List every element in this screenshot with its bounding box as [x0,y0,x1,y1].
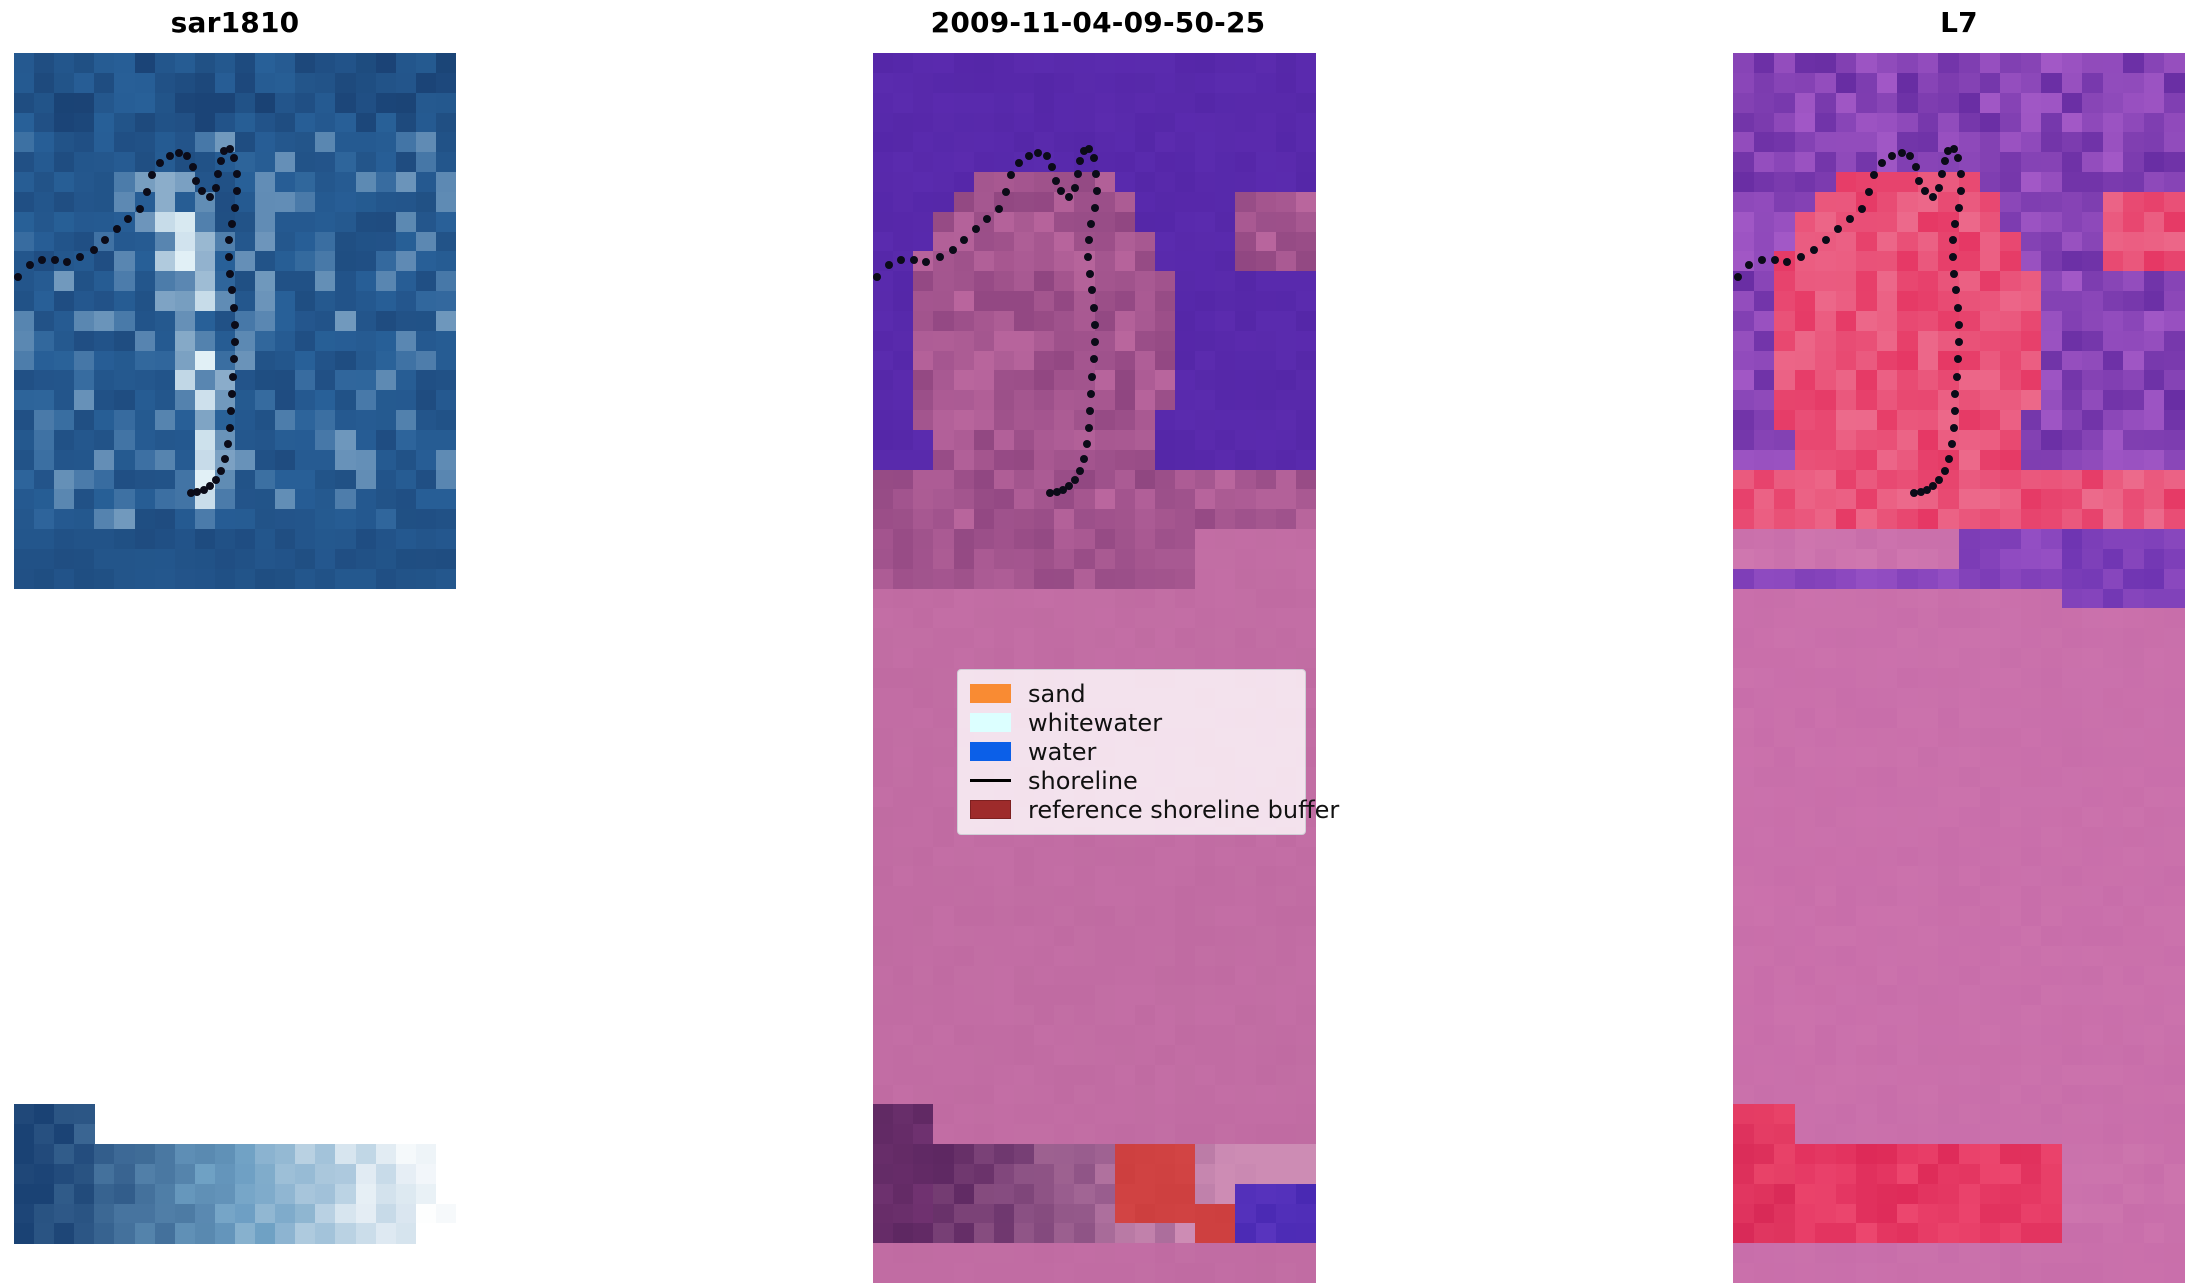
raster-cell [1877,1085,1898,1106]
raster-cell [2062,311,2083,332]
raster-cell [416,1184,437,1205]
raster-cell [1774,668,1795,689]
axes-classified[interactable] [873,53,1316,1283]
raster-cell [1155,1045,1176,1066]
raster-cell [54,73,75,94]
raster-cell [1054,212,1075,233]
raster-cell [1754,648,1775,669]
raster-cell [974,93,995,114]
raster-cell [1014,866,1035,887]
raster-cell [14,529,35,550]
raster-cell [34,311,55,332]
raster-cell [1014,113,1035,134]
raster-cell [1836,113,1857,134]
raster-cell [1938,1184,1959,1205]
raster-cell [2062,569,2083,590]
raster-cell [235,271,256,292]
raster-cell [893,767,914,788]
raster-cell [1155,886,1176,907]
raster-cell [1014,470,1035,491]
raster-cell [2062,271,2083,292]
raster-cell [1980,708,2001,729]
raster-cell [1215,608,1236,629]
raster-cell [2164,966,2185,987]
raster-cell [1980,450,2001,471]
raster-cell [2123,93,2144,114]
raster-cell [1195,946,1216,967]
raster-cell [1980,1124,2001,1145]
raster-cell [2062,53,2083,74]
raster-cell [1034,251,1055,272]
raster-cell [1155,648,1176,669]
raster-cell [2123,410,2144,431]
raster-cell [396,470,417,491]
raster-cell [1795,1104,1816,1125]
raster-cell [2103,966,2124,987]
raster-cell [175,251,196,272]
raster-cell [974,470,995,491]
axes-sar1810[interactable] [14,53,456,1283]
raster-cell [1215,886,1236,907]
raster-cell [873,807,894,828]
raster-cell [1256,926,1277,947]
raster-cell [954,1045,975,1066]
raster-cell [1135,271,1156,292]
raster-cell [1175,648,1196,669]
raster-cell [1095,410,1116,431]
raster-cell [873,1204,894,1225]
raster-cell [1959,886,1980,907]
raster-cell [1918,1124,1939,1145]
raster-cell [1276,311,1297,332]
raster-cell [1877,430,1898,451]
raster-cell [1054,1065,1075,1086]
raster-cell [1877,1243,1898,1264]
raster-cell [1195,311,1216,332]
raster-cell [1054,966,1075,987]
raster-cell [1774,807,1795,828]
raster-cell [1774,966,1795,987]
raster-cell [933,370,954,391]
shoreline-dot [221,455,229,463]
raster-cell [2041,886,2062,907]
raster-cell [1897,589,1918,610]
raster-cell [1074,906,1095,927]
raster-cell [1774,1045,1795,1066]
raster-cell [114,1144,135,1165]
raster-cell [356,113,377,134]
raster-cell [933,985,954,1006]
raster-cell [1074,985,1095,1006]
raster-cell [215,113,236,134]
raster-cell [1795,73,1816,94]
raster-cell [1115,1144,1136,1165]
raster-cell [1215,1144,1236,1165]
raster-cell [2123,509,2144,530]
raster-cell [1733,1263,1754,1283]
raster-cell [275,291,296,312]
raster-cell [396,113,417,134]
raster-cell [873,370,894,391]
raster-cell [2000,132,2021,153]
raster-cell [1980,1104,2001,1125]
raster-cell [94,132,115,153]
raster-cell [396,529,417,550]
raster-cell [1115,847,1136,868]
raster-cell [2144,1065,2165,1086]
raster-cell [2103,192,2124,213]
raster-cell [1175,1124,1196,1145]
raster-cell [974,132,995,153]
raster-cell [1856,569,1877,590]
raster-cell [34,152,55,173]
raster-cell [2062,747,2083,768]
raster-cell [2164,113,2185,134]
raster-cell [14,509,35,530]
shoreline-dot [1091,338,1099,346]
raster-cell [1195,113,1216,134]
raster-cell [1836,807,1857,828]
raster-cell [295,1144,316,1165]
raster-cell [2082,985,2103,1006]
raster-cell [1877,132,1898,153]
raster-cell [396,152,417,173]
raster-sar1810 [14,53,456,1283]
raster-cell [2123,1085,2144,1106]
raster-cell [2082,648,2103,669]
raster-cell [2103,926,2124,947]
raster-cell [1918,1184,1939,1205]
raster-cell [1155,172,1176,193]
raster-cell [135,53,156,74]
raster-cell [1980,1025,2001,1046]
raster-cell [1256,430,1277,451]
raster-cell [1276,93,1297,114]
raster-cell [1733,529,1754,550]
raster-cell [1276,866,1297,887]
raster-cell [1877,212,1898,233]
raster-cell [1774,93,1795,114]
raster-cell [255,291,276,312]
raster-cell [1877,93,1898,114]
raster-cell [994,331,1015,352]
raster-cell [356,410,377,431]
raster-cell [1256,985,1277,1006]
raster-cell [913,132,934,153]
raster-cell [1175,93,1196,114]
raster-cell [1754,1223,1775,1244]
raster-cell [1235,1243,1256,1264]
raster-cell [1256,966,1277,987]
raster-cell [1980,271,2001,292]
raster-cell [1774,767,1795,788]
raster-cell [2144,926,2165,947]
raster-cell [1959,985,1980,1006]
raster-cell [1175,1144,1196,1165]
raster-cell [436,53,456,74]
raster-cell [315,370,336,391]
raster-cell [1815,410,1836,431]
raster-cell [2062,1144,2083,1165]
raster-cell [2103,1025,2124,1046]
raster-cell [2021,926,2042,947]
raster-cell [873,53,894,74]
raster-cell [1733,192,1754,213]
raster-cell [2062,390,2083,411]
shoreline-dot [226,145,234,153]
raster-cell [1215,1045,1236,1066]
raster-cell [1795,1184,1816,1205]
raster-cell [974,906,995,927]
raster-cell [954,1204,975,1225]
raster-cell [2144,966,2165,987]
raster-cell [335,113,356,134]
raster-cell [873,1164,894,1185]
raster-cell [1856,390,1877,411]
raster-cell [135,113,156,134]
raster-cell [175,331,196,352]
raster-cell [1856,132,1877,153]
raster-cell [2103,1104,2124,1125]
raster-cell [1235,1085,1256,1106]
raster-cell [2123,1124,2144,1145]
raster-cell [1256,1005,1277,1026]
raster-cell [335,93,356,114]
raster-cell [2144,648,2165,669]
raster-cell [1276,628,1297,649]
raster-cell [873,1263,894,1283]
raster-cell [1918,53,1939,74]
raster-cell [14,192,35,213]
raster-cell [1296,132,1316,153]
raster-cell [1155,1065,1176,1086]
raster-cell [94,410,115,431]
raster-cell [1938,1005,1959,1026]
raster-cell [2082,668,2103,689]
raster-cell [1795,608,1816,629]
raster-cell [1175,271,1196,292]
raster-cell [2021,688,2042,709]
legend-label-whitewater: whitewater [1028,709,1162,737]
raster-cell [1836,906,1857,927]
raster-cell [1296,847,1316,868]
raster-cell [1095,866,1116,887]
raster-cell [1115,489,1136,510]
raster-cell [954,529,975,550]
raster-cell [933,946,954,967]
raster-cell [2144,351,2165,372]
raster-cell [1256,232,1277,253]
raster-cell [14,132,35,153]
raster-cell [1014,569,1035,590]
raster-cell [1175,589,1196,610]
raster-cell [1256,311,1277,332]
raster-cell [2144,152,2165,173]
raster-cell [396,1184,417,1205]
raster-cell [255,311,276,332]
raster-cell [155,232,176,253]
raster-cell [54,93,75,114]
raster-cell [2021,866,2042,887]
raster-cell [954,152,975,173]
raster-cell [2082,450,2103,471]
raster-cell [2082,291,2103,312]
raster-cell [913,470,934,491]
raster-cell [1135,847,1156,868]
raster-cell [1795,370,1816,391]
raster-cell [1774,1243,1795,1264]
shoreline-dot [885,261,893,269]
raster-cell [1795,1085,1816,1106]
raster-cell [94,73,115,94]
raster-cell [34,430,55,451]
raster-cell [436,569,456,590]
raster-cell [1815,430,1836,451]
raster-cell [1095,1263,1116,1283]
raster-cell [1980,688,2001,709]
raster-cell [114,311,135,332]
raster-cell [2062,946,2083,967]
raster-cell [913,113,934,134]
raster-cell [2021,172,2042,193]
raster-cell [1296,1104,1316,1125]
raster-cell [1836,1104,1857,1125]
raster-cell [933,331,954,352]
raster-cell [1215,529,1236,550]
raster-cell [255,390,276,411]
raster-cell [1034,1065,1055,1086]
raster-cell [1296,1045,1316,1066]
raster-cell [1276,73,1297,94]
raster-cell [974,926,995,947]
raster-cell [114,529,135,550]
raster-cell [1795,1005,1816,1026]
raster-cell [1276,648,1297,669]
raster-cell [255,370,276,391]
raster-cell [1815,390,1836,411]
raster-cell [1276,172,1297,193]
raster-cell [1235,113,1256,134]
raster-cell [2062,1045,2083,1066]
raster-cell [1815,1124,1836,1145]
raster-cell [54,271,75,292]
raster-cell [2144,509,2165,530]
raster-cell [2123,1204,2144,1225]
raster-cell [2144,608,2165,629]
raster-cell [2041,1104,2062,1125]
raster-cell [2062,93,2083,114]
raster-cell [2082,390,2103,411]
raster-cell [1155,1104,1176,1125]
raster-cell [1296,529,1316,550]
raster-cell [1296,608,1316,629]
raster-cell [1897,232,1918,253]
raster-cell [2000,311,2021,332]
raster-cell [2062,450,2083,471]
shoreline-dot [1087,390,1095,398]
raster-cell [295,1204,316,1225]
raster-cell [1836,648,1857,669]
raster-cell [2164,1164,2185,1185]
raster-cell [1877,192,1898,213]
raster-cell [1815,1005,1836,1026]
raster-cell [396,549,417,570]
raster-cell [1774,113,1795,134]
raster-cell [1877,708,1898,729]
raster-cell [1115,370,1136,391]
raster-cell [1276,489,1297,510]
raster-cell [1276,1065,1297,1086]
raster-cell [315,152,336,173]
raster-cell [954,549,975,570]
raster-cell [1918,450,1939,471]
raster-cell [1815,271,1836,292]
raster-cell [356,291,377,312]
raster-cell [1195,53,1216,74]
raster-cell [1095,985,1116,1006]
legend-label-reference-shoreline-buffer: reference shoreline buffer [1028,796,1339,824]
raster-cell [2103,1164,2124,1185]
raster-cell [1733,132,1754,153]
raster-cell [34,331,55,352]
raster-cell [1938,589,1959,610]
raster-cell [2164,708,2185,729]
raster-cell [1215,489,1236,510]
raster-cell [1897,351,1918,372]
raster-cell [2082,1243,2103,1264]
raster-cell [155,311,176,332]
raster-cell [94,1223,115,1244]
raster-cell [1815,53,1836,74]
raster-cell [1235,291,1256,312]
raster-cell [255,1164,276,1185]
raster-cell [933,847,954,868]
raster-cell [913,589,934,610]
axes-l7[interactable] [1733,53,2185,1283]
raster-cell [1877,1184,1898,1205]
raster-cell [893,807,914,828]
raster-cell [1235,529,1256,550]
raster-cell [2103,668,2124,689]
raster-cell [1195,589,1216,610]
raster-cell [2164,271,2185,292]
raster-cell [2062,132,2083,153]
raster-cell [2041,1085,2062,1106]
raster-cell [954,470,975,491]
raster-cell [1980,470,2001,491]
raster-cell [913,608,934,629]
raster-cell [1054,390,1075,411]
raster-cell [1034,430,1055,451]
raster-cell [1215,549,1236,570]
raster-cell [1034,529,1055,550]
shoreline-dot [214,170,222,178]
raster-cell [1754,331,1775,352]
raster-cell [933,53,954,74]
raster-cell [1980,351,2001,372]
raster-cell [994,1085,1015,1106]
raster-cell [1795,291,1816,312]
raster-cell [1897,1243,1918,1264]
raster-cell [1215,1005,1236,1026]
raster-cell [1795,1164,1816,1185]
shoreline-dot [228,220,236,228]
raster-cell [2123,232,2144,253]
raster-cell [2082,1124,2103,1145]
raster-cell [2000,628,2021,649]
raster-cell [974,331,995,352]
raster-cell [1980,589,2001,610]
